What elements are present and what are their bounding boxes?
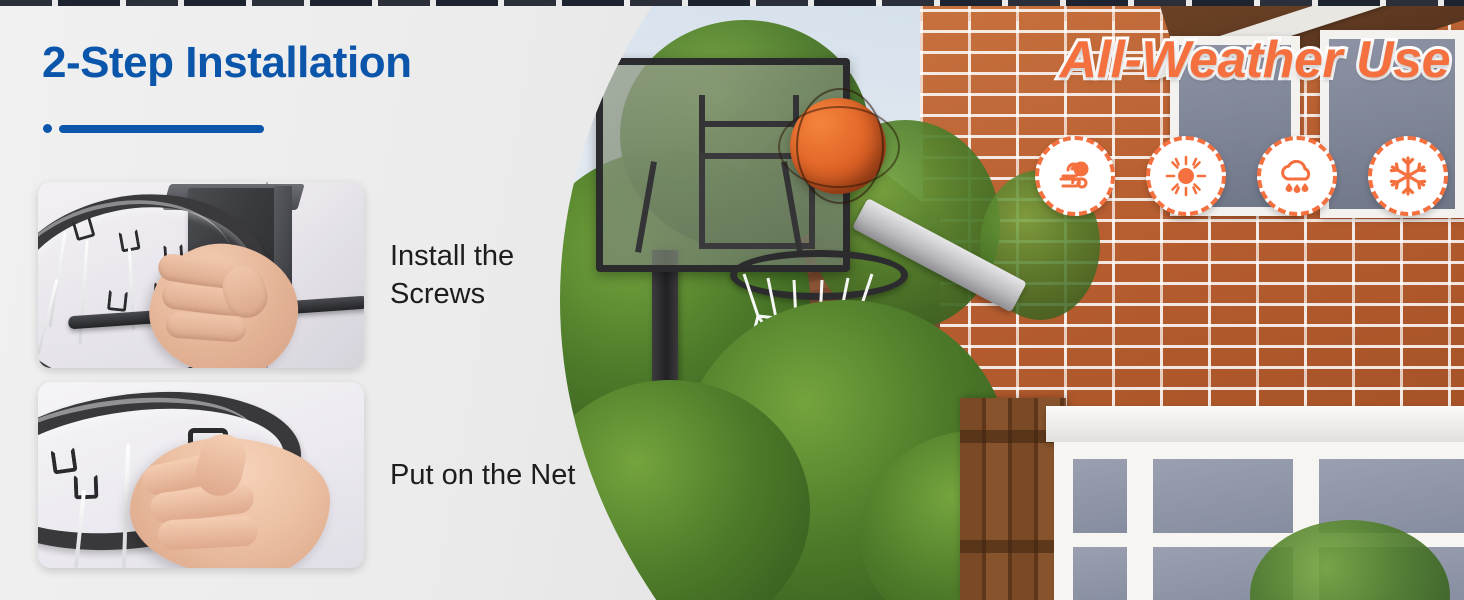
page-title: 2-Step Installation [42, 38, 411, 88]
bay-window-header [1046, 406, 1464, 442]
weather-badge-rain [1257, 136, 1337, 216]
weather-badge-snow [1368, 136, 1448, 216]
finger [165, 311, 247, 343]
backboard-brace [635, 161, 657, 253]
snowflake-icon [1387, 155, 1429, 197]
install-screws-photo [38, 182, 364, 368]
title-accent-underline [43, 124, 264, 133]
basketball [790, 98, 886, 194]
bay-window-pane [1146, 452, 1300, 540]
ball-seam [778, 106, 900, 188]
all-weather-headline: All-Weather Use [1060, 30, 1450, 90]
wind-cloud-icon [1054, 155, 1096, 197]
step-caption-2: Put on the Net [390, 456, 575, 494]
step-item-2: Put on the Net [38, 382, 575, 568]
product-scene-photo [560, 0, 1464, 600]
feature-banner: 2-Step Installation [0, 0, 1464, 600]
put-on-net-photo [38, 382, 364, 568]
net-hook [107, 289, 128, 312]
rain-cloud-icon [1276, 155, 1318, 197]
accent-dot [43, 124, 52, 133]
backboard-strut [699, 121, 799, 127]
fence-rail [960, 540, 1066, 553]
bay-window-pane [1066, 452, 1134, 540]
weather-badge-sun [1146, 136, 1226, 216]
sun-icon [1165, 155, 1207, 197]
top-edge-strip [0, 0, 1464, 6]
net-hook [50, 446, 77, 474]
step-item-1: Install the Screws [38, 182, 514, 368]
finger [157, 515, 258, 550]
net-hook [74, 474, 99, 500]
step-caption-1: Install the Screws [390, 237, 514, 314]
accent-bar [59, 125, 264, 133]
weather-badge-wind [1035, 136, 1115, 216]
weather-icon-row [1035, 136, 1448, 216]
bay-window-pane [1066, 540, 1134, 600]
